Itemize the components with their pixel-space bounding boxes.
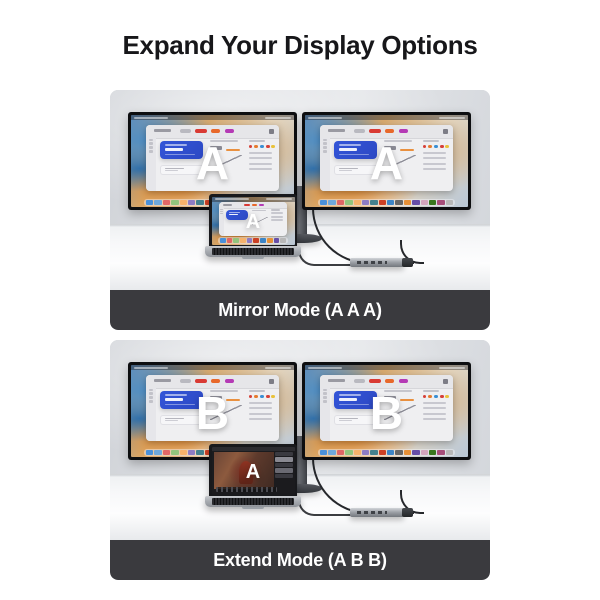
right-panel — [249, 140, 276, 188]
hub-cable-plug — [402, 258, 413, 267]
monitor-right-letter: A — [370, 140, 403, 186]
usb-c-hub — [350, 258, 404, 267]
avatar-dots — [249, 145, 276, 149]
macos-dock — [318, 199, 455, 206]
photo-filmstrip — [216, 487, 277, 491]
toolbar-item-3 — [211, 129, 220, 134]
macos-menubar — [212, 197, 295, 202]
toolbar-item-4 — [225, 129, 234, 134]
monitor-left-letter: B — [196, 390, 229, 436]
laptop-letter: A — [246, 211, 260, 231]
panel-label-extend-mode: Extend Mode (A B B) — [110, 540, 490, 580]
app-sidebar — [146, 138, 157, 192]
panel-label-text: Extend Mode (A B B) — [213, 550, 387, 571]
hub-ports — [357, 511, 387, 514]
laptop-base — [205, 496, 301, 507]
laptop-keyboard — [212, 498, 294, 505]
app-title-placeholder — [154, 129, 171, 132]
panel-extend-mode: B — [110, 340, 490, 580]
laptop: A — [205, 194, 301, 260]
laptop-base — [205, 246, 301, 257]
menubar-status-items — [265, 117, 291, 119]
macos-menubar — [131, 115, 294, 120]
right-panel — [271, 209, 285, 234]
page-title: Expand Your Display Options — [0, 30, 600, 61]
toolbar-item-1 — [180, 129, 191, 134]
photo-editor-panel — [275, 452, 292, 489]
macos-menubar — [305, 365, 468, 370]
external-monitor-right: A — [302, 112, 471, 210]
hub-ports — [357, 261, 387, 264]
toolbar-item-2 — [195, 129, 207, 134]
macos-menubar — [131, 365, 294, 370]
laptop-lid: A — [209, 194, 297, 247]
photo-editor-toolbar — [212, 447, 295, 451]
scene-mirror-mode: A — [110, 90, 490, 290]
monitor-left-letter: A — [196, 140, 229, 186]
external-monitor-right: B — [302, 362, 471, 460]
macos-dock — [318, 449, 455, 456]
menubar-left-items — [134, 117, 168, 119]
hub-cable-plug — [402, 508, 413, 517]
usb-c-hub — [350, 508, 404, 517]
laptop: A — [205, 444, 301, 510]
laptop-front-notch — [242, 507, 264, 509]
laptop-screen: A — [212, 197, 295, 245]
scene-extend-mode: B — [110, 340, 490, 540]
panel-label-text: Mirror Mode (A A A) — [218, 300, 382, 321]
macos-dock — [218, 237, 288, 244]
laptop-front-notch — [242, 257, 264, 259]
laptop-keyboard — [212, 248, 294, 255]
monitor-right-letter: B — [370, 390, 403, 436]
monitor-right-screen: B — [305, 365, 468, 457]
photo-editor-canvas — [214, 452, 274, 489]
toolbar-right-icon — [269, 129, 274, 134]
infographic-page: Expand Your Display Options — [0, 0, 600, 600]
laptop-lid: A — [209, 444, 297, 497]
laptop-letter: A — [246, 461, 260, 481]
macos-menubar — [305, 115, 468, 120]
monitor-right-screen: A — [305, 115, 468, 207]
panel-mirror-mode: A — [110, 90, 490, 330]
right-panel — [423, 390, 450, 438]
right-panel — [249, 390, 276, 438]
right-panel — [423, 140, 450, 188]
panel-label-mirror-mode: Mirror Mode (A A A) — [110, 290, 490, 330]
transaction-list — [249, 152, 276, 170]
laptop-screen: A — [212, 447, 295, 495]
